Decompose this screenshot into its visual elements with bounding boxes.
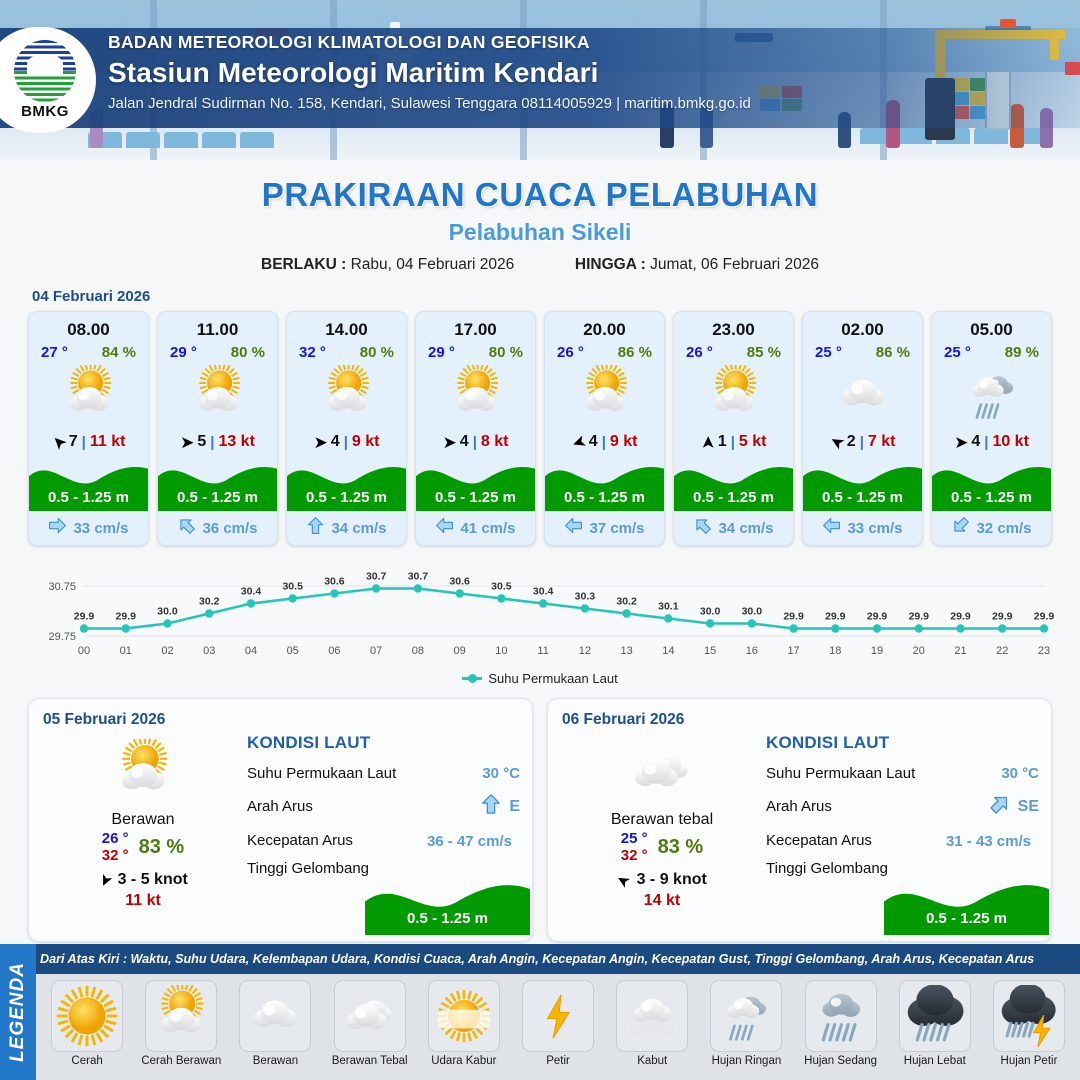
daily-temp-max: 32 ° [102, 848, 129, 865]
current-direction-label: Arah Arus [247, 798, 313, 815]
daily-wind-speed: 3 - 9 knot [637, 871, 707, 889]
hujan-lebat-icon [899, 980, 971, 1052]
legend-item: Berawan Tebal [323, 980, 417, 1067]
svg-text:00: 00 [78, 645, 90, 657]
wind-direction-arrow-icon: ➤ [699, 435, 716, 449]
legend-item: Kabut [605, 980, 699, 1067]
hourly-card: 11.00 29 ° 80 % ➤ 5 | 13 kt 0.5 - 1.25 m… [157, 311, 278, 546]
card-temperature: 29 ° [428, 344, 455, 361]
cerah-berawan-icon [29, 363, 148, 427]
svg-text:08: 08 [412, 645, 424, 657]
daily-wind-gust: 14 kt [562, 892, 762, 910]
legend-item-label: Petir [546, 1055, 570, 1067]
card-humidity: 86 % [876, 344, 910, 361]
current-speed-value: 37 cm/s [589, 520, 644, 537]
card-wind: ➤ 4 | 8 kt [416, 427, 535, 457]
sst-chart-svg: 30.7529.7529.90029.90130.00230.20330.404… [22, 564, 1058, 664]
current-speed-value: 32 cm/s [976, 520, 1031, 537]
title-block: PRAKIRAAN CUACA PELABUHAN Pelabuhan Sike… [0, 176, 1080, 274]
cerah-berawan-icon [158, 363, 277, 427]
current-direction-arrow-icon [693, 516, 712, 540]
svg-text:07: 07 [370, 645, 382, 657]
card-current: 41 cm/s [416, 511, 535, 545]
validity-row: BERLAKU : Rabu, 04 Februari 2026 HINGGA … [0, 256, 1080, 274]
hourly-card: 05.00 25 ° 89 % ➤ 4 | 10 kt 0.5 - 1.25 m… [931, 311, 1052, 546]
chart-legend: Suhu Permukaan Laut [22, 671, 1058, 686]
wind-gust-value: 8 kt [481, 433, 509, 451]
wind-direction-arrow-icon: ➤ [569, 432, 588, 453]
daily-wave-block: 0.5 - 1.25 m [365, 873, 530, 935]
svg-text:17: 17 [787, 645, 799, 657]
svg-text:14: 14 [662, 645, 674, 657]
card-humidity: 85 % [747, 344, 781, 361]
current-speed-value: 41 cm/s [460, 520, 515, 537]
card-temperature: 25 ° [944, 344, 971, 361]
svg-text:16: 16 [746, 645, 758, 657]
cerah-berawan-icon [545, 363, 664, 427]
card-wave: 0.5 - 1.25 m [545, 455, 664, 511]
svg-text:30.4: 30.4 [533, 586, 554, 598]
berawan-tebal-icon [562, 737, 762, 807]
hourly-card: 08.00 27 ° 84 % ➤ 7 | 11 kt 0.5 - 1.25 m… [28, 311, 149, 546]
wind-direction-value: 2 [847, 433, 856, 451]
wave-height-value: 0.5 - 1.25 m [158, 489, 277, 506]
wave-height-label: Tinggi Gelombang [247, 860, 369, 877]
card-wind: ➤ 4 | 9 kt [287, 427, 406, 457]
svg-text:30.2: 30.2 [199, 596, 220, 608]
wind-direction-value: 7 [69, 433, 78, 451]
card-wind: ➤ 1 | 5 kt [674, 427, 793, 457]
card-wind: ➤ 4 | 10 kt [932, 427, 1051, 457]
card-wave: 0.5 - 1.25 m [674, 455, 793, 511]
sst-value: 30 °C [482, 765, 520, 782]
current-speed-value: 31 - 43 cm/s [946, 833, 1031, 850]
wind-direction-arrow-icon: ➤ [954, 434, 968, 451]
berawan-icon [803, 363, 922, 427]
card-current: 32 cm/s [932, 511, 1051, 545]
current-speed-value: 34 cm/s [331, 520, 386, 537]
svg-text:30.1: 30.1 [658, 601, 679, 613]
card-temperature: 27 ° [41, 344, 68, 361]
card-temperature: 25 ° [815, 344, 842, 361]
svg-text:23: 23 [1038, 645, 1050, 657]
svg-text:30.7: 30.7 [408, 571, 429, 583]
svg-text:15: 15 [704, 645, 716, 657]
wind-direction-value: 4 [589, 433, 598, 451]
svg-text:30.4: 30.4 [241, 586, 262, 598]
card-current: 33 cm/s [29, 511, 148, 545]
daily-forecast-panel: 06 Februari 2026 Berawan tebal 25 ° 32 °… [547, 698, 1052, 942]
card-current: 34 cm/s [287, 511, 406, 545]
page-header: BMKG BADAN METEOROLOGI KLIMATOLOGI DAN G… [0, 0, 1080, 160]
daily-humidity: 83 % [139, 836, 185, 859]
card-wave: 0.5 - 1.25 m [932, 455, 1051, 511]
card-humidity: 80 % [360, 344, 394, 361]
chart-legend-marker-icon [462, 677, 482, 680]
hourly-forecast-cards: 08.00 27 ° 84 % ➤ 7 | 11 kt 0.5 - 1.25 m… [0, 311, 1080, 546]
wind-direction-value: 4 [460, 433, 469, 451]
legend-item-label: Berawan Tebal [332, 1055, 408, 1067]
hourly-card: 20.00 26 ° 86 % ➤ 4 | 9 kt 0.5 - 1.25 m … [544, 311, 665, 546]
cerah-icon [51, 980, 123, 1052]
svg-text:29.9: 29.9 [116, 611, 137, 623]
cerah-berawan-icon [287, 363, 406, 427]
legend-item-label: Hujan Petir [1001, 1055, 1058, 1067]
current-speed-label: Kecepatan Arus [766, 832, 872, 849]
legend-item-label: Hujan Sedang [804, 1055, 877, 1067]
card-current: 33 cm/s [803, 511, 922, 545]
daily-temp-min: 25 ° [621, 831, 648, 848]
current-direction-arrow-icon [48, 516, 67, 540]
daily-forecast-panels: 05 Februari 2026 Berawan 26 ° 32 ° 83 % … [0, 688, 1080, 942]
svg-text:09: 09 [454, 645, 466, 657]
legend-item: Cerah [40, 980, 134, 1067]
current-direction-label: Arah Arus [766, 798, 832, 815]
svg-text:29.9: 29.9 [1034, 611, 1055, 623]
svg-text:30.75: 30.75 [48, 581, 76, 593]
current-speed-value: 34 cm/s [718, 520, 773, 537]
svg-text:06: 06 [328, 645, 340, 657]
bmkg-logo-text: BMKG [10, 103, 80, 120]
svg-text:30.6: 30.6 [449, 576, 470, 588]
card-humidity: 86 % [618, 344, 652, 361]
hujan-sedang-icon [805, 980, 877, 1052]
hourly-card: 23.00 26 ° 85 % ➤ 1 | 5 kt 0.5 - 1.25 m … [673, 311, 794, 546]
svg-text:03: 03 [203, 645, 215, 657]
wind-direction-arrow-icon: ➤ [95, 870, 115, 889]
legend-section: LEGENDA Dari Atas Kiri : Waktu, Suhu Uda… [0, 944, 1080, 1080]
svg-text:13: 13 [620, 645, 632, 657]
wind-direction-arrow-icon: ➤ [48, 431, 70, 453]
legend-item: Hujan Ringan [699, 980, 793, 1067]
card-temperature: 29 ° [170, 344, 197, 361]
sst-value: 30 °C [1001, 765, 1039, 782]
wind-direction-arrow-icon: ➤ [314, 434, 328, 451]
wind-direction-arrow-icon: ➤ [443, 434, 457, 451]
hourly-card: 14.00 32 ° 80 % ➤ 4 | 9 kt 0.5 - 1.25 m … [286, 311, 407, 546]
card-wind: ➤ 4 | 9 kt [545, 427, 664, 457]
legend-item-label: Kabut [637, 1055, 667, 1067]
daily-humidity: 83 % [658, 836, 704, 859]
station-address: Jalan Jendral Sudirman No. 158, Kendari,… [108, 95, 751, 112]
wind-gust-value: 7 kt [868, 433, 896, 451]
sst-label: Suhu Permukaan Laut [247, 765, 396, 782]
card-temperature: 32 ° [299, 344, 326, 361]
chart-legend-label: Suhu Permukaan Laut [488, 671, 617, 686]
current-direction-arrow-icon [306, 516, 325, 540]
port-name: Pelabuhan Sikeli [0, 219, 1080, 246]
card-wave: 0.5 - 1.25 m [158, 455, 277, 511]
wave-height-value: 0.5 - 1.25 m [545, 489, 664, 506]
berawan-tebal-icon [334, 980, 406, 1052]
card-time: 20.00 [545, 312, 664, 342]
current-speed-value: 36 cm/s [202, 520, 257, 537]
petir-icon [522, 980, 594, 1052]
legend-item: Hujan Petir [982, 980, 1076, 1067]
wave-height-label: Tinggi Gelombang [766, 860, 888, 877]
svg-text:02: 02 [161, 645, 173, 657]
wave-height-value: 0.5 - 1.25 m [674, 489, 793, 506]
hujan-ringan-icon [710, 980, 782, 1052]
cerah-berawan-icon [674, 363, 793, 427]
current-speed-label: Kecepatan Arus [247, 832, 353, 849]
wave-height-value: 0.5 - 1.25 m [29, 489, 148, 506]
legend-item: Petir [511, 980, 605, 1067]
card-time: 02.00 [803, 312, 922, 342]
current-direction-arrow-icon [480, 793, 502, 820]
wind-direction-value: 1 [718, 433, 727, 451]
wind-gust-value: 9 kt [352, 433, 380, 451]
svg-text:20: 20 [913, 645, 925, 657]
legend-item: Cerah Berawan [134, 980, 228, 1067]
svg-text:30.5: 30.5 [282, 581, 303, 593]
legend-item-label: Udara Kabur [431, 1055, 496, 1067]
daily-condition: Berawan tebal [562, 811, 762, 829]
card-current: 36 cm/s [158, 511, 277, 545]
daily-forecast-panel: 05 Februari 2026 Berawan 26 ° 32 ° 83 % … [28, 698, 533, 942]
wind-gust-value: 13 kt [218, 433, 254, 451]
svg-text:29.75: 29.75 [48, 631, 76, 643]
hujan-ringan-icon [932, 363, 1051, 427]
card-time: 05.00 [932, 312, 1051, 342]
station-name: Stasiun Meteorologi Maritim Kendari [108, 57, 751, 89]
card-wind: ➤ 7 | 11 kt [29, 427, 148, 457]
card-time: 17.00 [416, 312, 535, 342]
svg-text:10: 10 [495, 645, 507, 657]
svg-text:01: 01 [120, 645, 132, 657]
current-speed-value: 33 cm/s [847, 520, 902, 537]
svg-text:04: 04 [245, 645, 257, 657]
sst-chart: 30.7529.7529.90029.90130.00230.20330.404… [22, 560, 1058, 688]
svg-text:11: 11 [537, 645, 548, 657]
wave-height-value: 0.5 - 1.25 m [803, 489, 922, 506]
hourly-card: 02.00 25 ° 86 % ➤ 2 | 7 kt 0.5 - 1.25 m … [802, 311, 923, 546]
legend-item: Udara Kabur [417, 980, 511, 1067]
card-wind: ➤ 2 | 7 kt [803, 427, 922, 457]
daily-wind-gust: 11 kt [43, 892, 243, 910]
card-current: 34 cm/s [674, 511, 793, 545]
svg-text:29.9: 29.9 [74, 611, 95, 623]
card-humidity: 80 % [489, 344, 523, 361]
svg-text:18: 18 [829, 645, 841, 657]
hourly-card: 17.00 29 ° 80 % ➤ 4 | 8 kt 0.5 - 1.25 m … [415, 311, 536, 546]
berlaku-value: Rabu, 04 Februari 2026 [351, 256, 515, 273]
card-humidity: 89 % [1005, 344, 1039, 361]
wave-height-value: 0.5 - 1.25 m [287, 489, 406, 506]
wind-gust-value: 10 kt [992, 433, 1028, 451]
sst-label: Suhu Permukaan Laut [766, 765, 915, 782]
kabut-icon [616, 980, 688, 1052]
current-direction-arrow-icon [435, 516, 454, 540]
current-direction-value: E [480, 793, 520, 820]
hingga-label: HINGGA : [575, 256, 646, 273]
svg-text:05: 05 [287, 645, 299, 657]
card-time: 14.00 [287, 312, 406, 342]
current-direction-value: SE [989, 793, 1039, 820]
svg-text:29.9: 29.9 [909, 611, 930, 623]
svg-text:30.0: 30.0 [700, 606, 721, 618]
berawan-icon [239, 980, 311, 1052]
hingga-value: Jumat, 06 Februari 2026 [650, 256, 819, 273]
svg-text:29.9: 29.9 [783, 611, 804, 623]
daily-wave-block: 0.5 - 1.25 m [884, 873, 1049, 935]
svg-text:22: 22 [996, 645, 1008, 657]
svg-text:29.9: 29.9 [992, 611, 1013, 623]
card-wave: 0.5 - 1.25 m [416, 455, 535, 511]
legend-side-title: LEGENDA [0, 944, 36, 1080]
card-temperature: 26 ° [557, 344, 584, 361]
svg-text:29.9: 29.9 [950, 611, 971, 623]
wind-direction-arrow-icon: ➤ [826, 431, 847, 453]
svg-text:12: 12 [579, 645, 591, 657]
bmkg-emblem-icon [14, 40, 76, 102]
cerah-berawan-icon [416, 363, 535, 427]
svg-text:29.9: 29.9 [825, 611, 846, 623]
svg-text:30.0: 30.0 [157, 606, 178, 618]
wind-direction-value: 5 [197, 433, 206, 451]
wind-gust-value: 5 kt [739, 433, 767, 451]
legend-item-label: Cerah [71, 1055, 102, 1067]
page-title: PRAKIRAAN CUACA PELABUHAN [0, 176, 1080, 214]
legend-item: Berawan [228, 980, 322, 1067]
berlaku-label: BERLAKU : [261, 256, 346, 273]
legend-note: Dari Atas Kiri : Waktu, Suhu Udara, Kele… [40, 952, 1074, 966]
hourly-date-label: 04 Februari 2026 [32, 288, 1080, 305]
udara-kabur-icon [428, 980, 500, 1052]
card-time: 11.00 [158, 312, 277, 342]
card-wave: 0.5 - 1.25 m [803, 455, 922, 511]
wave-height-value: 0.5 - 1.25 m [416, 489, 535, 506]
sea-conditions-title: KONDISI LAUT [247, 733, 520, 753]
daily-temp-min: 26 ° [102, 831, 129, 848]
wind-direction-arrow-icon: ➤ [614, 869, 634, 890]
card-time: 23.00 [674, 312, 793, 342]
hujan-petir-icon [993, 980, 1065, 1052]
daily-date: 06 Februari 2026 [562, 711, 1037, 729]
legend-item: Hujan Sedang [794, 980, 888, 1067]
wind-gust-value: 9 kt [610, 433, 638, 451]
agency-name: BADAN METEOROLOGI KLIMATOLOGI DAN GEOFIS… [108, 32, 751, 53]
card-time: 08.00 [29, 312, 148, 342]
wind-direction-value: 4 [971, 433, 980, 451]
wind-direction-arrow-icon: ➤ [180, 434, 194, 451]
sea-conditions-title: KONDISI LAUT [766, 733, 1039, 753]
legend-item-label: Berawan [253, 1055, 298, 1067]
svg-text:30.2: 30.2 [616, 596, 637, 608]
legend-item-label: Hujan Ringan [712, 1055, 782, 1067]
card-temperature: 26 ° [686, 344, 713, 361]
svg-text:30.6: 30.6 [324, 576, 345, 588]
current-speed-value: 36 - 47 cm/s [427, 833, 512, 850]
legend-item-label: Hujan Lebat [904, 1055, 966, 1067]
card-wave: 0.5 - 1.25 m [29, 455, 148, 511]
wind-gust-value: 11 kt [90, 433, 126, 451]
svg-text:19: 19 [871, 645, 883, 657]
daily-wave-value: 0.5 - 1.25 m [884, 910, 1049, 927]
svg-text:21: 21 [954, 645, 966, 657]
daily-condition: Berawan [43, 811, 243, 829]
current-direction-arrow-icon [822, 516, 841, 540]
current-speed-value: 33 cm/s [73, 520, 128, 537]
daily-wind-speed: 3 - 5 knot [118, 871, 188, 889]
svg-text:30.3: 30.3 [575, 591, 596, 603]
card-current: 37 cm/s [545, 511, 664, 545]
svg-text:30.7: 30.7 [366, 571, 387, 583]
daily-date: 05 Februari 2026 [43, 711, 518, 729]
current-direction-arrow-icon [564, 516, 583, 540]
cerah-berawan-icon [43, 737, 243, 807]
current-direction-arrow-icon [951, 516, 970, 540]
wave-height-value: 0.5 - 1.25 m [932, 489, 1051, 506]
current-direction-arrow-icon [177, 516, 196, 540]
legend-item: Hujan Lebat [888, 980, 982, 1067]
svg-text:30.0: 30.0 [742, 606, 763, 618]
card-humidity: 80 % [231, 344, 265, 361]
svg-text:30.5: 30.5 [491, 581, 512, 593]
current-direction-arrow-icon [989, 793, 1011, 820]
cerah-berawan-icon [145, 980, 217, 1052]
card-wave: 0.5 - 1.25 m [287, 455, 406, 511]
card-wind: ➤ 5 | 13 kt [158, 427, 277, 457]
daily-wave-value: 0.5 - 1.25 m [365, 910, 530, 927]
legend-item-label: Cerah Berawan [141, 1055, 221, 1067]
svg-text:29.9: 29.9 [867, 611, 888, 623]
wind-direction-value: 4 [331, 433, 340, 451]
daily-temp-max: 32 ° [621, 848, 648, 865]
card-humidity: 84 % [102, 344, 136, 361]
legend-items: Cerah Cerah Berawan Berawan Berawan Teba… [36, 974, 1080, 1080]
